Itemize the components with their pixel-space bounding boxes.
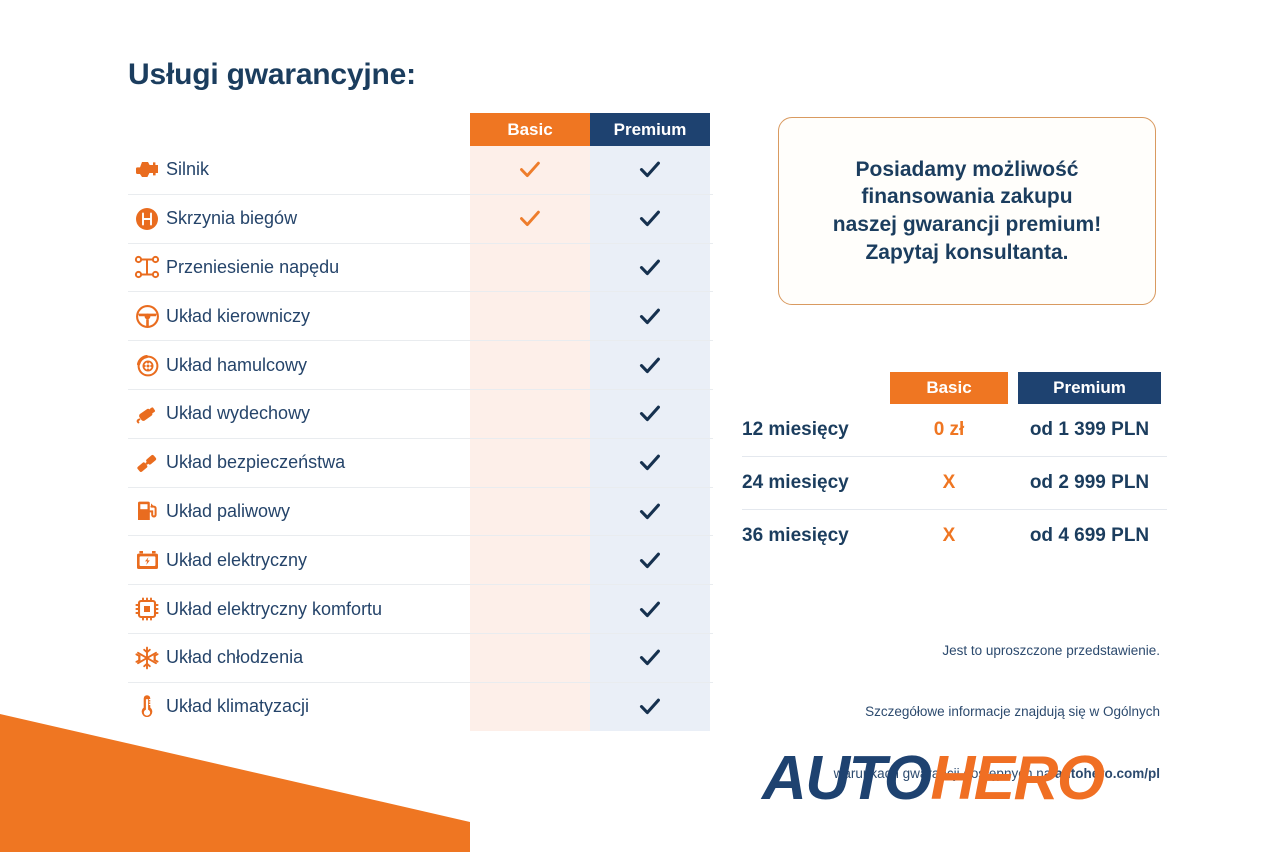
services-row-list: SilnikSkrzynia biegówPrzeniesienie napęd… <box>128 146 713 731</box>
premium-availability-mark <box>590 146 710 194</box>
pricing-premium-value: od 4 699 PLN <box>1018 525 1161 547</box>
warranty-services-section: Usługi gwarancyjne: Basic Premium Silnik… <box>128 58 713 731</box>
logo-auto-text: AUTO <box>762 744 931 813</box>
gearbox-icon <box>128 204 166 234</box>
premium-availability-mark <box>590 195 710 243</box>
service-label: Silnik <box>166 159 209 180</box>
pricing-premium-value: od 1 399 PLN <box>1018 419 1161 441</box>
table-row: Układ paliwowy <box>128 488 713 537</box>
table-row: Układ elektryczny <box>128 536 713 585</box>
thermometer-icon <box>128 692 166 722</box>
premium-availability-mark <box>590 390 710 438</box>
basic-availability-mark <box>470 292 590 340</box>
basic-availability-mark <box>470 390 590 438</box>
pricing-basic-value: 0 zł <box>890 419 1008 441</box>
table-row: Silnik <box>128 146 713 195</box>
basic-availability-mark <box>470 488 590 536</box>
logo-hero-text: HERO <box>931 744 1104 813</box>
basic-availability-mark <box>470 195 590 243</box>
premium-availability-mark <box>590 536 710 584</box>
pricing-row: 36 miesięcyXod 4 699 PLN <box>742 510 1167 562</box>
service-label: Układ chłodzenia <box>166 647 303 668</box>
premium-availability-mark <box>590 341 710 389</box>
brake-disc-icon <box>128 350 166 380</box>
drivetrain-icon <box>128 252 166 282</box>
service-label: Układ bezpieczeństwa <box>166 452 345 473</box>
column-header-premium: Premium <box>590 113 710 146</box>
financing-callout-box: Posiadamy możliwość finansowania zakupu … <box>778 117 1156 305</box>
services-table-header: Basic Premium <box>128 113 713 146</box>
table-row: Układ bezpieczeństwa <box>128 439 713 488</box>
premium-availability-mark <box>590 488 710 536</box>
battery-icon <box>128 545 166 575</box>
service-label: Układ wydechowy <box>166 403 310 424</box>
service-label: Układ paliwowy <box>166 501 290 522</box>
table-row: Układ klimatyzacji <box>128 683 713 731</box>
steering-wheel-icon <box>128 301 166 331</box>
service-label: Układ elektryczny komfortu <box>166 599 382 620</box>
exhaust-icon <box>128 399 166 429</box>
basic-availability-mark <box>470 439 590 487</box>
autohero-logo: AUTOHERO <box>762 748 1104 810</box>
table-row: Skrzynia biegów <box>128 195 713 244</box>
basic-availability-mark <box>470 536 590 584</box>
premium-availability-mark <box>590 244 710 292</box>
snowflake-icon <box>128 643 166 673</box>
table-row: Układ chłodzenia <box>128 634 713 683</box>
pricing-premium-value: od 2 999 PLN <box>1018 472 1161 494</box>
pricing-header-basic: Basic <box>890 372 1008 404</box>
pricing-header-premium: Premium <box>1018 372 1161 404</box>
premium-availability-mark <box>590 292 710 340</box>
chip-icon <box>128 594 166 624</box>
service-label: Układ kierowniczy <box>166 306 310 327</box>
premium-availability-mark <box>590 439 710 487</box>
service-label: Przeniesienie napędu <box>166 257 339 278</box>
basic-availability-mark <box>470 146 590 194</box>
pricing-basic-value: X <box>890 525 1008 547</box>
poster-canvas: Usługi gwarancyjne: Basic Premium Silnik… <box>0 0 1280 852</box>
disclaimer-line-1: Jest to uproszczone przedstawienie. <box>942 643 1160 658</box>
table-row: Układ elektryczny komfortu <box>128 585 713 634</box>
page-title: Usługi gwarancyjne: <box>128 58 713 91</box>
disclaimer-line-2: Szczegółowe informacje znajdują się w Og… <box>865 704 1160 719</box>
pricing-row: 24 miesięcyXod 2 999 PLN <box>742 457 1167 510</box>
pricing-term: 36 miesięcy <box>742 525 890 547</box>
basic-availability-mark <box>470 634 590 682</box>
basic-availability-mark <box>470 585 590 633</box>
services-table: Basic Premium SilnikSkrzynia biegówPrzen… <box>128 113 713 731</box>
pricing-table-header: Basic Premium <box>742 372 1167 404</box>
service-label: Układ hamulcowy <box>166 355 307 376</box>
table-row: Układ kierowniczy <box>128 292 713 341</box>
premium-availability-mark <box>590 585 710 633</box>
table-row: Układ hamulcowy <box>128 341 713 390</box>
pricing-table: Basic Premium 12 miesięcy0 złod 1 399 PL… <box>742 372 1167 562</box>
column-header-basic: Basic <box>470 113 590 146</box>
service-label: Układ elektryczny <box>166 550 307 571</box>
service-label: Układ klimatyzacji <box>166 696 309 717</box>
table-row: Przeniesienie napędu <box>128 244 713 293</box>
fuel-pump-icon <box>128 496 166 526</box>
pricing-row: 12 miesięcy0 złod 1 399 PLN <box>742 404 1167 457</box>
engine-icon <box>128 155 166 185</box>
service-label: Skrzynia biegów <box>166 208 297 229</box>
pricing-row-list: 12 miesięcy0 złod 1 399 PLN24 miesięcyXo… <box>742 404 1167 562</box>
table-row: Układ wydechowy <box>128 390 713 439</box>
pricing-term: 12 miesięcy <box>742 419 890 441</box>
financing-callout-text: Posiadamy możliwość finansowania zakupu … <box>821 156 1113 267</box>
basic-availability-mark <box>470 341 590 389</box>
seatbelt-icon <box>128 448 166 478</box>
premium-availability-mark <box>590 634 710 682</box>
pricing-term: 24 miesięcy <box>742 472 890 494</box>
basic-availability-mark <box>470 683 590 731</box>
pricing-basic-value: X <box>890 472 1008 494</box>
premium-availability-mark <box>590 683 710 731</box>
basic-availability-mark <box>470 244 590 292</box>
